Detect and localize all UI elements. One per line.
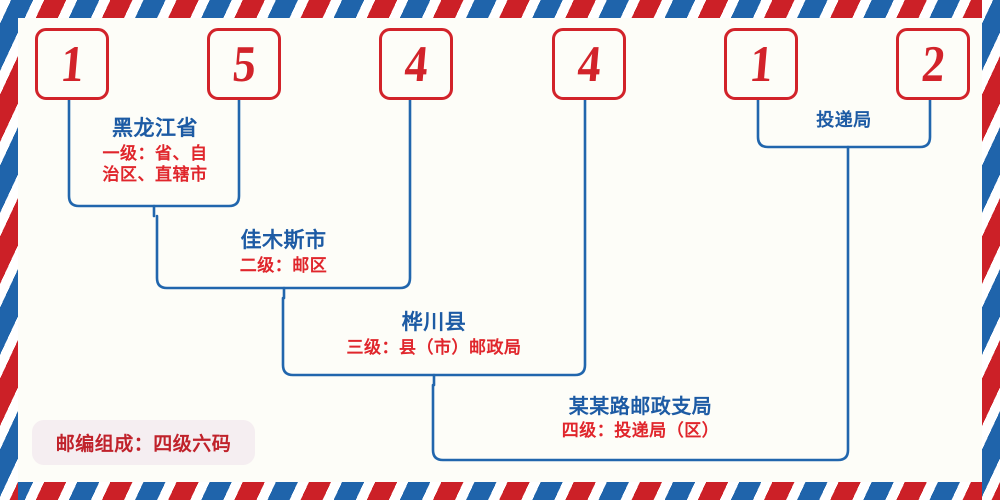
level-2-subtitle: 二级：邮区 [157, 256, 410, 277]
postcode-digit-1[interactable]: 1 [35, 28, 109, 100]
level-4-subtitle-line-1: 四级：投递局（区） [433, 421, 848, 442]
level-2-label: 佳木斯市 二级：邮区 [157, 224, 410, 277]
digit-glyph: 4 [575, 38, 603, 90]
postcode-digit-5[interactable]: 1 [724, 28, 798, 100]
level-4-label: 某某路邮政支局 四级：投递局（区） [433, 390, 848, 442]
postcode-composition-badge: 邮编组成：四级六码 [32, 420, 255, 465]
postcode-digit-6[interactable]: 2 [896, 28, 970, 100]
level-2-title: 佳木斯市 [157, 224, 410, 254]
postcode-digit-2[interactable]: 5 [207, 28, 281, 100]
digit-glyph: 4 [402, 38, 430, 90]
delivery-office-label: 投递局 [758, 106, 930, 132]
digit-glyph: 1 [747, 38, 775, 90]
digit-glyph: 5 [230, 38, 258, 90]
level-1-label: 黑龙江省 一级：省、自 治区、直辖市 [70, 112, 240, 185]
level-2-subtitle-line-1: 二级：邮区 [157, 256, 410, 277]
level-3-subtitle-line-1: 三级：县（市）邮政局 [283, 338, 585, 359]
digit-glyph: 2 [919, 38, 947, 90]
postcode-digit-3[interactable]: 4 [379, 28, 453, 100]
level-1-subtitle-line-1: 一级：省、自 [70, 144, 240, 165]
level-1-title: 黑龙江省 [70, 112, 240, 142]
level-3-subtitle: 三级：县（市）邮政局 [283, 338, 585, 359]
level-4-title: 某某路邮政支局 [433, 390, 848, 419]
postcode-digit-4[interactable]: 4 [552, 28, 626, 100]
level-3-label: 桦川县 三级：县（市）邮政局 [283, 306, 585, 359]
level-1-subtitle-line-2: 治区、直辖市 [70, 165, 240, 186]
level-3-title: 桦川县 [283, 306, 585, 336]
postcode-composition-text: 邮编组成：四级六码 [56, 429, 232, 456]
level-1-subtitle: 一级：省、自 治区、直辖市 [70, 144, 240, 185]
delivery-office-title: 投递局 [758, 106, 930, 132]
postcode-diagram-canvas: 1 5 4 4 1 2 投递局 黑龙江省 一级：省、自 治区、直辖市 佳木斯市 … [0, 0, 1000, 500]
level-4-subtitle: 四级：投递局（区） [433, 421, 848, 442]
digit-glyph: 1 [58, 38, 86, 90]
